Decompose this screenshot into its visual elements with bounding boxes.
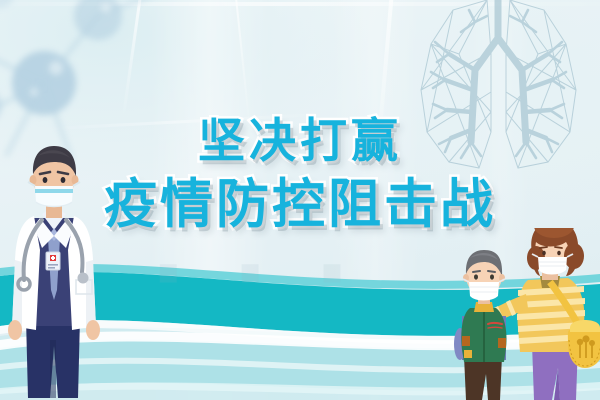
lungs-wireframe-icon	[391, 0, 600, 182]
poster-canvas: · · · 坚决打赢 疫情防控阻击战	[0, 0, 600, 400]
family-illustration	[454, 228, 600, 400]
doctor-illustration	[0, 140, 110, 400]
background-watermark: · · ·	[150, 218, 356, 330]
